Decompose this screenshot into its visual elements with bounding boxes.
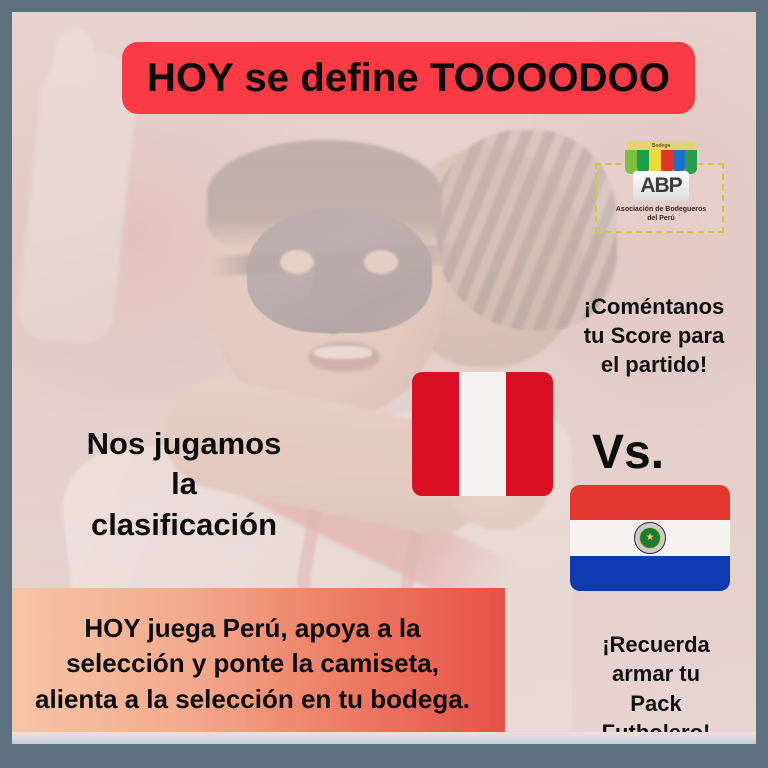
bottom-message-text: HOY juega Perú, apoya a la selección y p…	[33, 611, 473, 716]
paraguay-coat-of-arms: ★	[634, 522, 666, 554]
paraguay-flag-band-blue	[570, 556, 730, 591]
bottom-message-banner: HOY juega Perú, apoya a la selección y p…	[0, 588, 505, 740]
headline-banner: HOY se define TOOOODOO	[122, 42, 695, 114]
pack-prompt-text: ¡Recuerda armar tu Pack Futbolero!	[566, 630, 746, 747]
peru-flag-stripe-middle	[459, 372, 506, 496]
logo-storefront: ABP	[633, 171, 689, 201]
logo-monogram: ABP	[640, 174, 681, 198]
peru-flag-stripe-left	[412, 372, 459, 496]
paraguay-seal-star: ★	[639, 527, 661, 549]
logo-caption: Asociación de Bodegueros del Perú	[605, 205, 717, 224]
left-slogan-text: Nos jugamos la clasificación	[24, 424, 344, 545]
peru-flag-stripe-right	[506, 372, 553, 496]
versus-label: Vs.	[592, 425, 664, 480]
headline-text: HOY se define TOOOODOO	[147, 56, 670, 101]
paraguay-flag-band-white: ★	[570, 520, 730, 555]
paraguay-flag-band-red	[570, 485, 730, 520]
poster-canvas: marathon HOY se define TOOOODOO Bodega A…	[0, 0, 768, 768]
paraguay-flag: ★	[570, 485, 730, 591]
score-prompt-text: ¡Coméntanos tu Score para el partido!	[556, 292, 752, 379]
peru-flag	[412, 372, 553, 496]
abp-logo: Bodega ABP Asociación de Bodegueros del …	[595, 133, 726, 235]
awning-stripe-6	[685, 150, 697, 174]
